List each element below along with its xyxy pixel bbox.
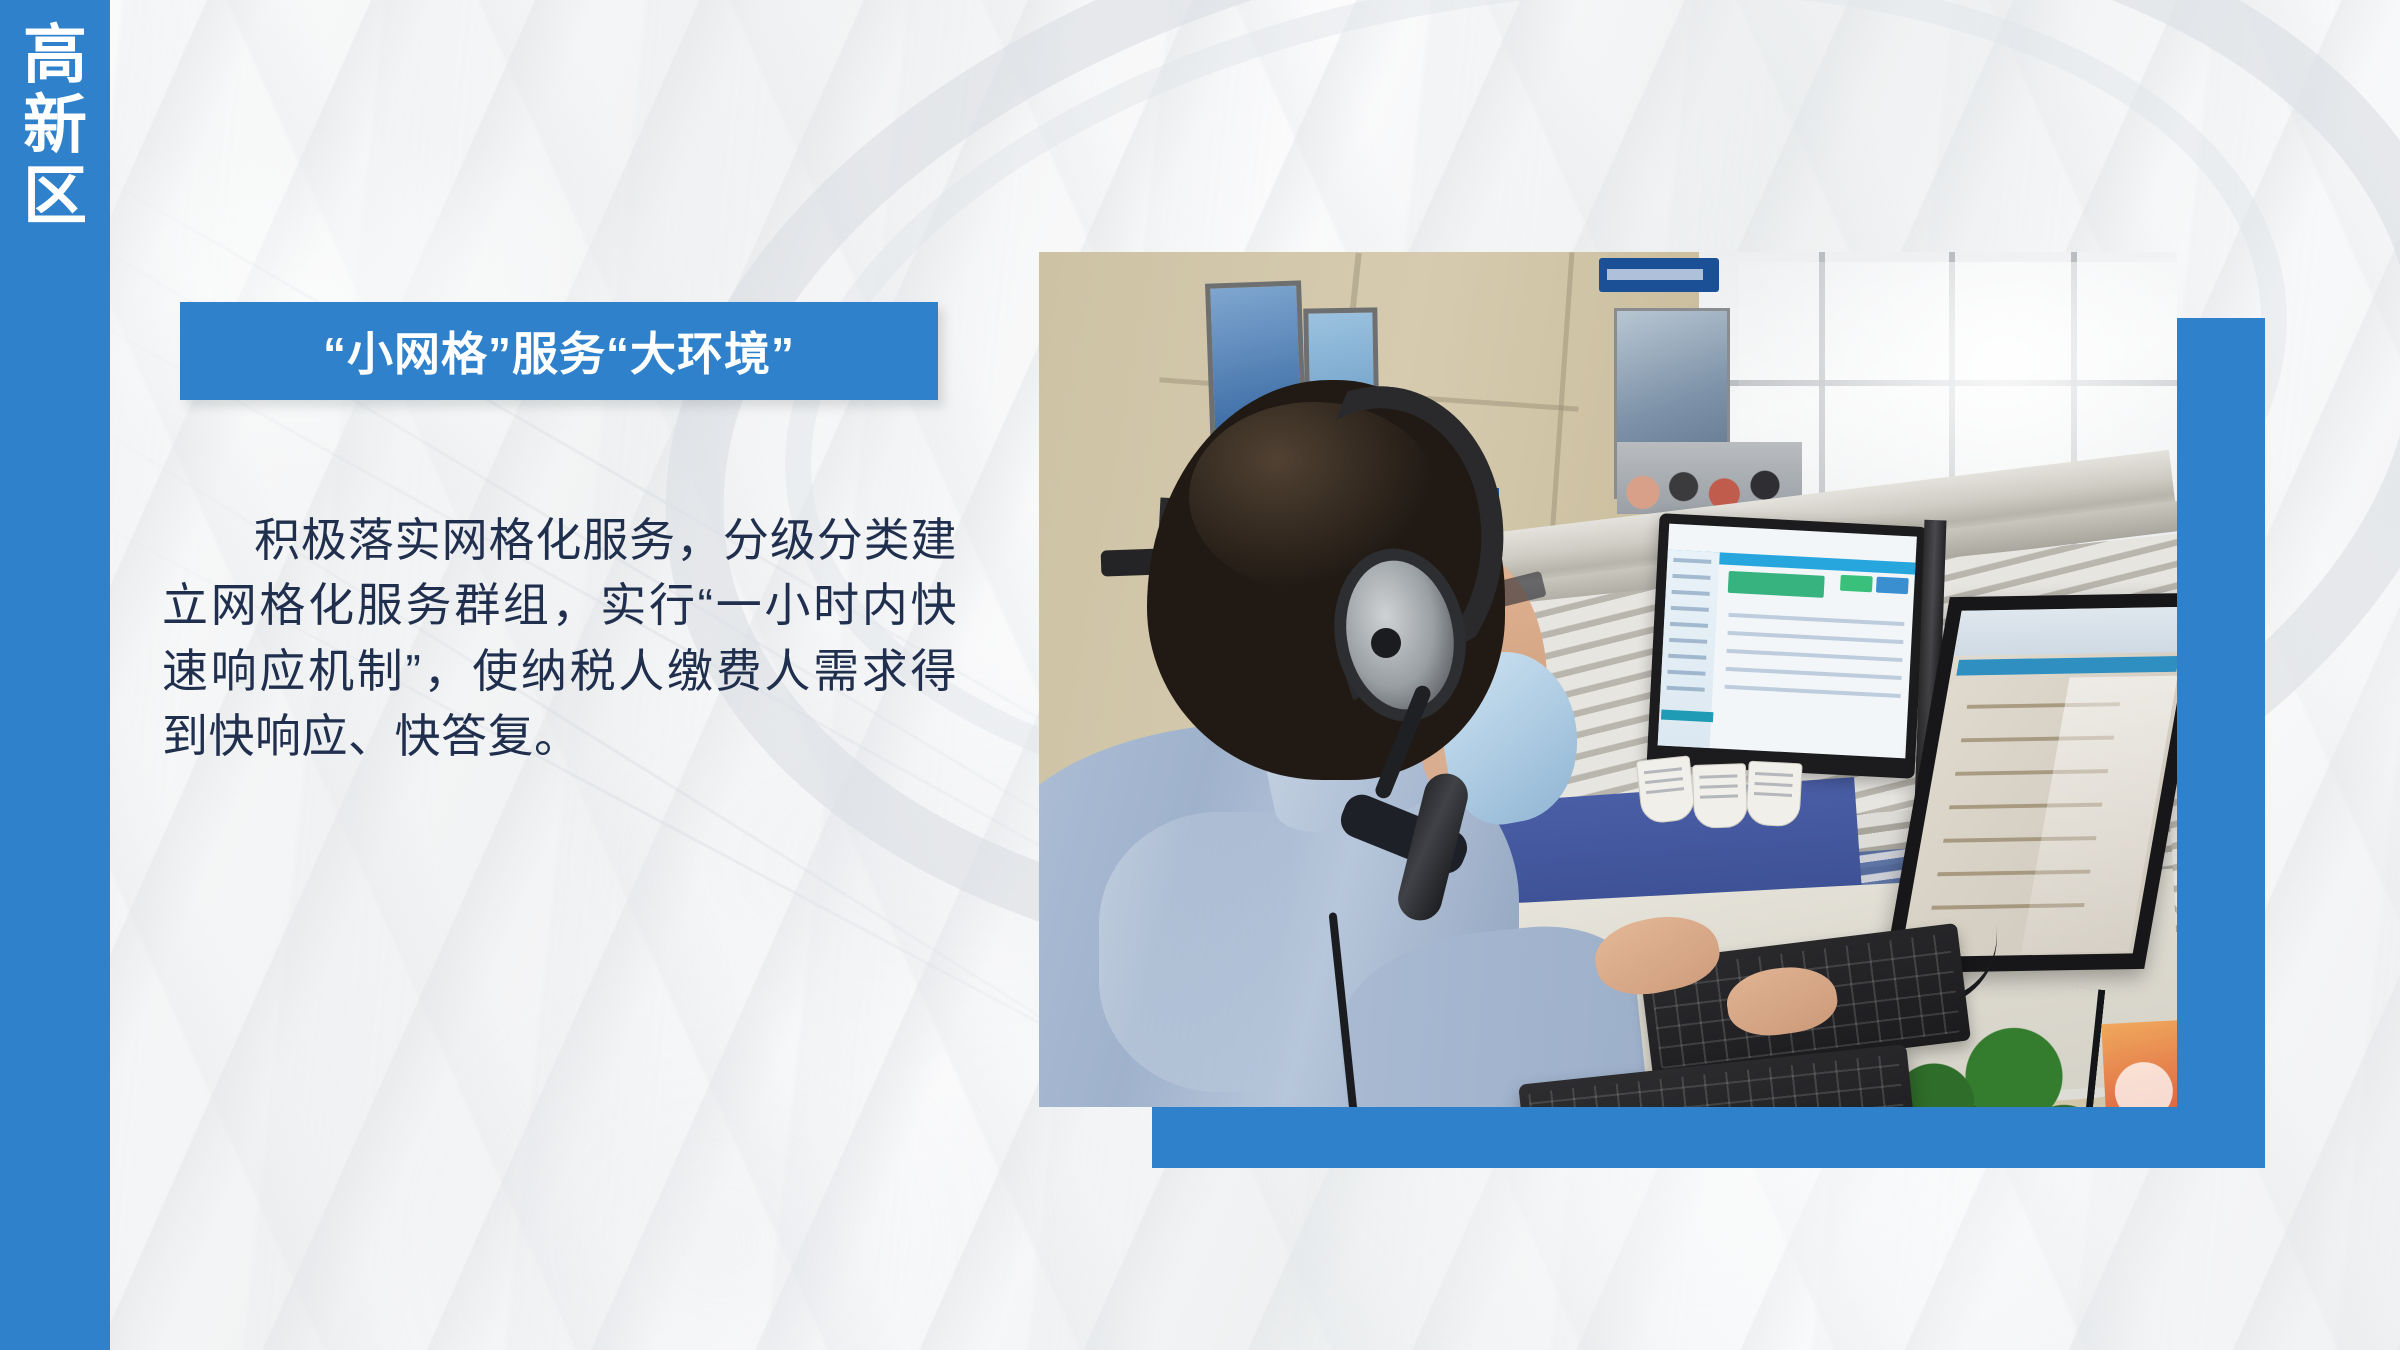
body-paragraph: 积极落实网格化服务，分级分类建立网格化服务群组，实行“一小时内快速响应机制”，使… [162, 508, 957, 769]
brand-rail-label: 高 新 区 [0, 20, 110, 320]
photo-counter-sign [1599, 258, 1719, 292]
section-title-banner: “小网格”服务“大环境” [180, 302, 938, 400]
photo-screen-row-2 [1728, 631, 1904, 644]
photo-screen-button-green [1840, 575, 1873, 593]
section-title-text: “小网格”服务“大环境” [323, 318, 795, 384]
photo-sticky-note-3 [1745, 761, 1802, 828]
brand-char-2: 新 [23, 90, 87, 160]
photo-screen-button-blue [1876, 577, 1909, 595]
slide-canvas: 高 新 区 “小网格”服务“大环境” 积极落实网格化服务，分级分类建立网格化服务… [0, 0, 2400, 1350]
photo-workstation [1039, 252, 2177, 1107]
photo-monitor-primary-screen [1658, 524, 1917, 759]
photo-monitor-primary [1647, 513, 1928, 779]
photo-secondary-screen-tabbar [1956, 656, 2177, 676]
photo-screen-row-1 [1728, 613, 1904, 626]
brand-char-3: 区 [23, 161, 87, 231]
photo-headset-earcup-center [1371, 628, 1401, 658]
photo-screen-row-3 [1727, 649, 1903, 662]
brand-char-1: 高 [23, 20, 87, 90]
photo-screen-row-5 [1725, 685, 1901, 698]
photo-sticky-note-2 [1692, 763, 1748, 829]
photo-screen-row-4 [1726, 667, 1902, 680]
photo-sticky-note-1 [1636, 755, 1696, 824]
photo-desk-card [2101, 1020, 2177, 1107]
photo-screen-primary-action [1728, 571, 1825, 598]
photo-secondary-screen-glare [2021, 676, 2177, 954]
photo-secondary-screen-header [1954, 607, 2177, 656]
